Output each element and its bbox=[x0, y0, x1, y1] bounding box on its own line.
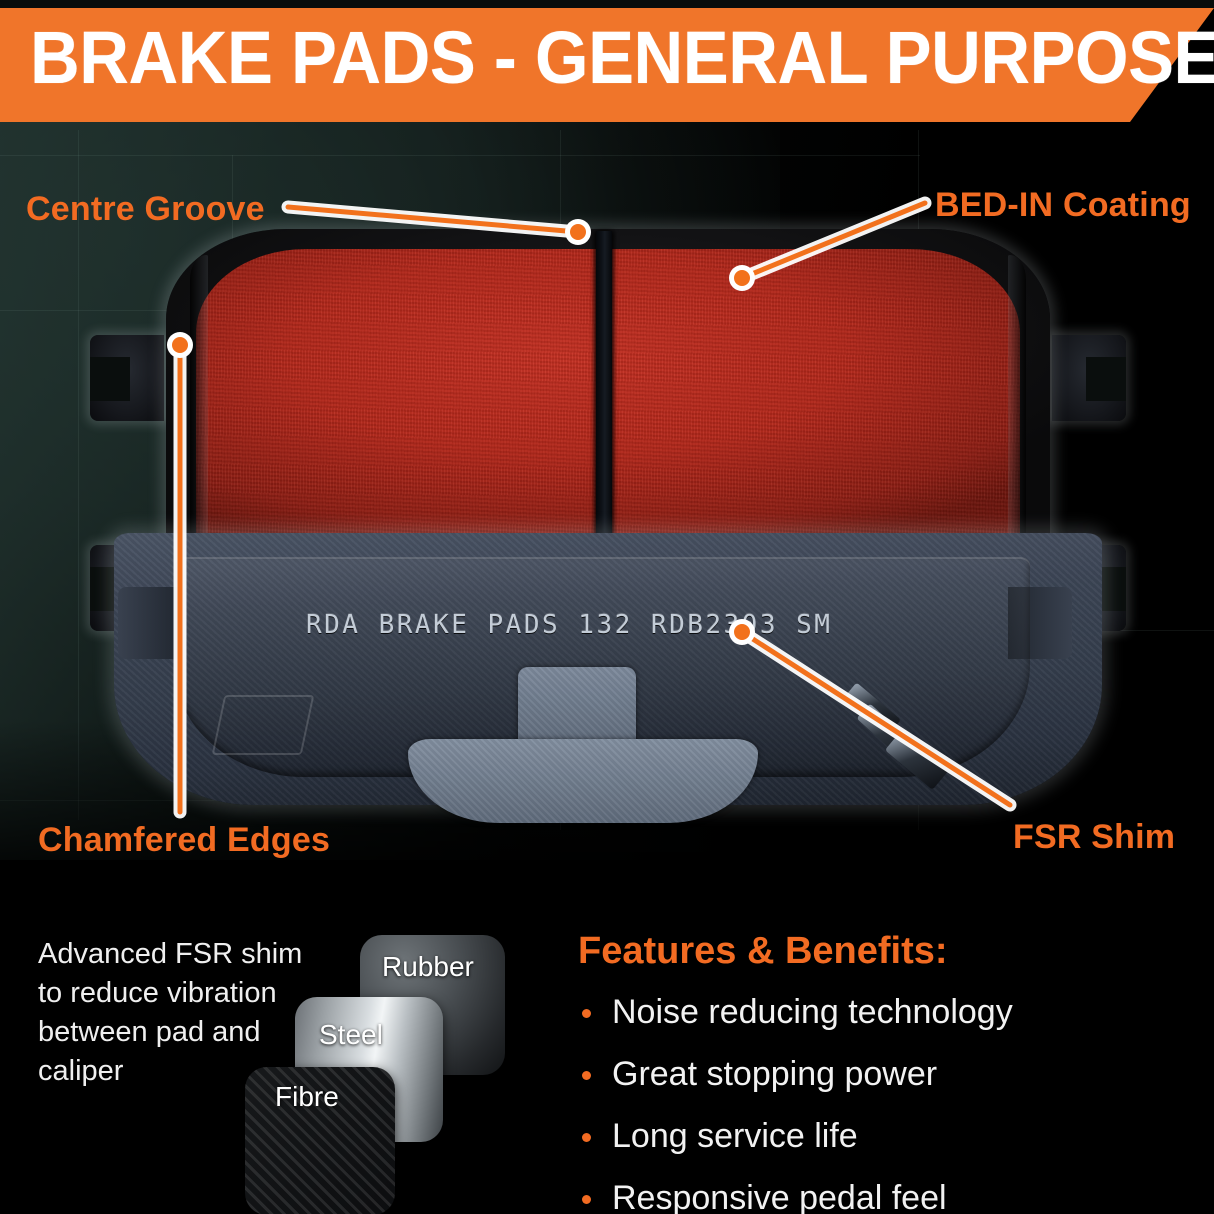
feature-item: Great stopping power bbox=[578, 1049, 1098, 1099]
feature-text: Long service life bbox=[612, 1117, 858, 1155]
features-section: Features & Benefits: Noise reducing tech… bbox=[578, 930, 1098, 1214]
pad-ear-notch bbox=[90, 357, 130, 401]
infographic-canvas: BRAKE PADS - GENERAL PURPOSE RDA BRAKE P… bbox=[0, 0, 1214, 1214]
callout-label-bed-in-coating: BED-IN Coating bbox=[935, 186, 1191, 225]
feature-item: Long service life bbox=[578, 1111, 1098, 1161]
features-title: Features & Benefits: bbox=[578, 930, 1098, 973]
feature-item: Noise reducing technology bbox=[578, 987, 1098, 1037]
pad-marking-text: RDA BRAKE PADS 132 RDB2303 SM bbox=[306, 610, 866, 640]
layer-fibre: Fibre bbox=[245, 1067, 395, 1214]
callout-label-centre-groove: Centre Groove bbox=[26, 190, 265, 229]
shim-layer-diagram: Rubber Steel Fibre bbox=[245, 935, 515, 1170]
clip-segment bbox=[885, 730, 949, 790]
feature-text: Great stopping power bbox=[612, 1055, 937, 1093]
banner-top-edge bbox=[0, 0, 1214, 9]
wear-indicator-clip bbox=[838, 695, 958, 791]
callout-label-chamfered-edges: Chamfered Edges bbox=[38, 821, 330, 860]
bullet-icon bbox=[582, 1071, 591, 1080]
backing-plate-boss-lower bbox=[408, 739, 758, 823]
callout-label-fsr-shim: FSR Shim bbox=[1013, 818, 1175, 857]
centre-groove-slot bbox=[596, 231, 612, 563]
brake-pad-illustration: RDA BRAKE PADS 132 RDB2303 SM bbox=[78, 215, 1138, 815]
layer-label-steel: Steel bbox=[319, 1019, 383, 1051]
backing-plate-lug-left bbox=[118, 587, 182, 659]
feature-item: Responsive pedal feel bbox=[578, 1173, 1098, 1214]
chamfered-edge-left bbox=[190, 255, 208, 555]
feature-text: Noise reducing technology bbox=[612, 993, 1013, 1031]
pad-ear-notch bbox=[1086, 357, 1126, 401]
page-title: BRAKE PADS - GENERAL PURPOSE bbox=[30, 12, 1214, 104]
layer-label-rubber: Rubber bbox=[382, 951, 474, 983]
chamfered-edge-right bbox=[1008, 255, 1026, 555]
layer-label-fibre: Fibre bbox=[275, 1081, 339, 1113]
bullet-icon bbox=[582, 1195, 591, 1204]
bullet-icon bbox=[582, 1009, 591, 1018]
bullet-icon bbox=[582, 1133, 591, 1142]
feature-text: Responsive pedal feel bbox=[612, 1179, 947, 1214]
features-list: Noise reducing technology Great stopping… bbox=[578, 987, 1098, 1214]
grid-line-horizontal bbox=[0, 155, 920, 156]
backing-plate-notch bbox=[212, 695, 315, 755]
